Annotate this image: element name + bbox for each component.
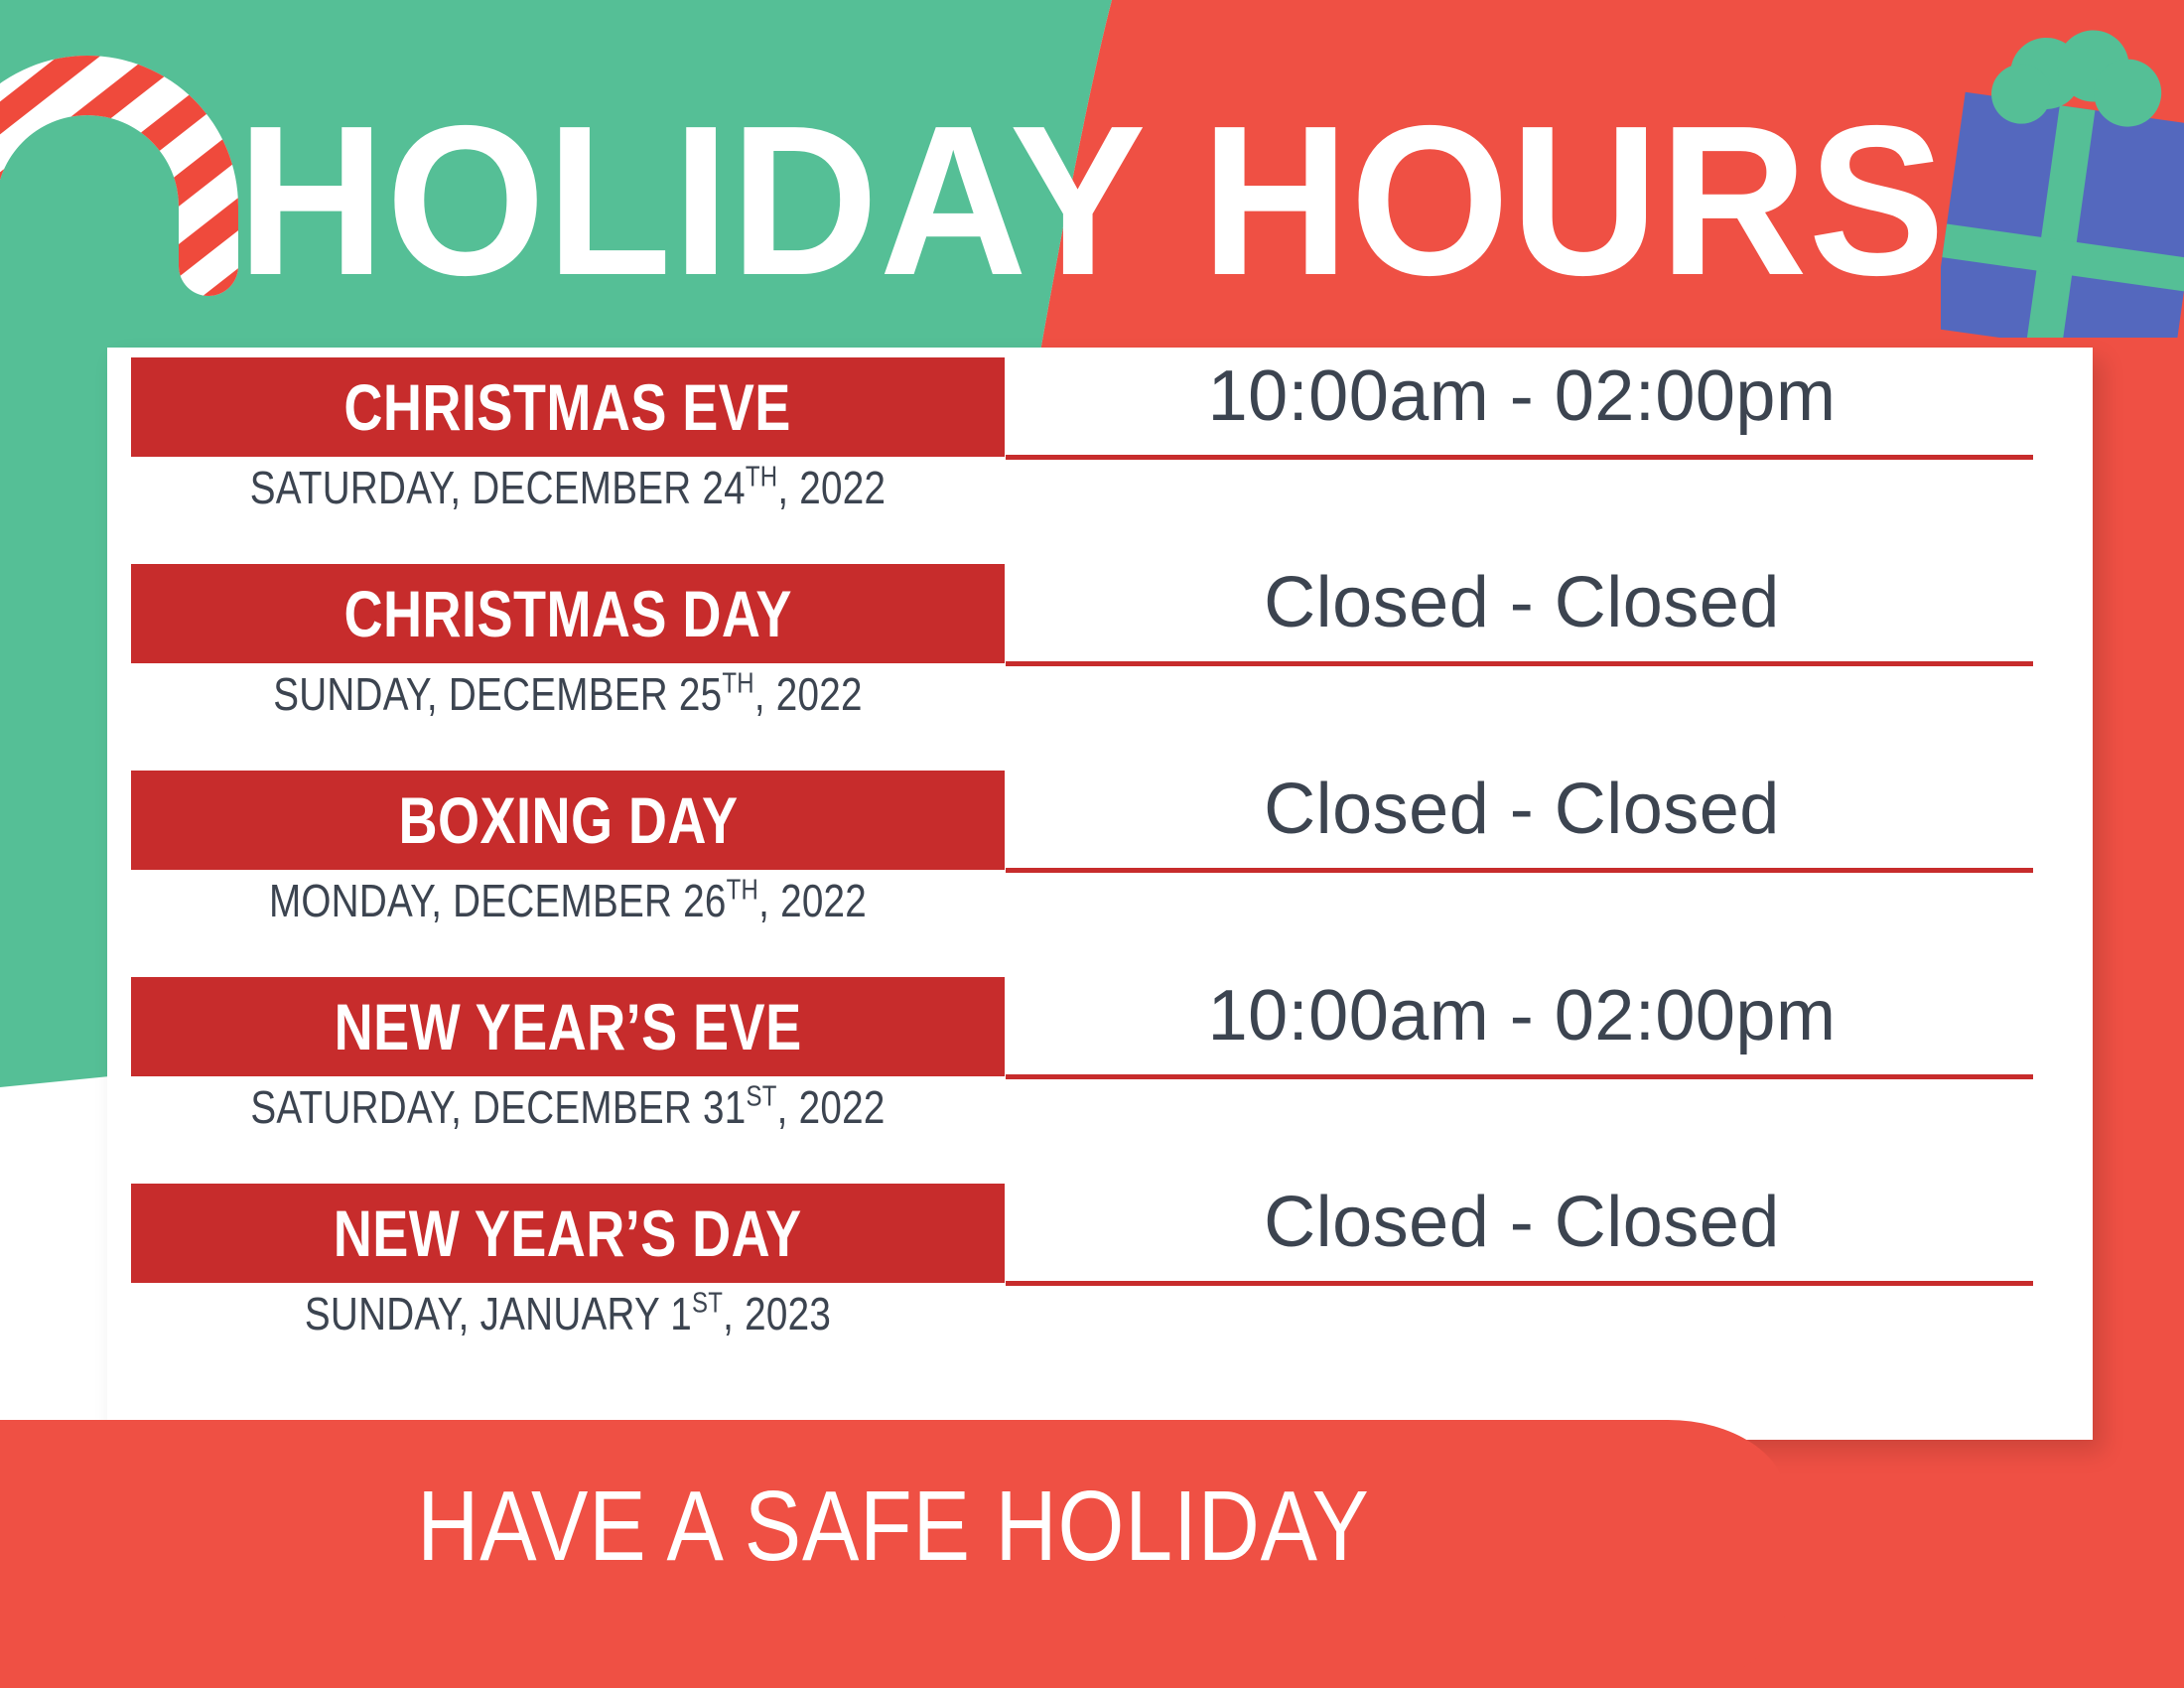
day-date-ordinal: TH — [727, 874, 758, 906]
day-date-year: , 2022 — [777, 462, 886, 513]
day-name: CHRISTMAS DAY — [343, 576, 791, 651]
day-name: NEW YEAR’S DAY — [334, 1196, 802, 1271]
day-date: SUNDAY, DECEMBER 25TH, 2022 — [201, 667, 934, 721]
hours-cell: Closed - Closed — [1011, 1162, 2033, 1283]
hours-underline — [1006, 661, 2033, 666]
table-row: NEW YEAR’S EVE SATURDAY, DECEMBER 31ST, … — [107, 977, 2093, 1184]
day-date-weekday: SUNDAY, DECEMBER 25 — [273, 668, 722, 720]
day-date-year: , 2023 — [723, 1288, 831, 1339]
table-row: BOXING DAY MONDAY, DECEMBER 26TH, 2022 C… — [107, 771, 2093, 977]
day-date: SATURDAY, DECEMBER 24TH, 2022 — [201, 461, 934, 514]
hours-cell: 10:00am - 02:00pm — [1011, 336, 2033, 457]
day-date-year: , 2022 — [758, 875, 867, 926]
hours-cell: Closed - Closed — [1011, 749, 2033, 870]
day-label-bar: NEW YEAR’S EVE — [131, 977, 1005, 1076]
day-label-bar: BOXING DAY — [131, 771, 1005, 870]
day-label-bar: CHRISTMAS DAY — [131, 564, 1005, 663]
hours-cell: 10:00am - 02:00pm — [1011, 955, 2033, 1076]
hours-value: 10:00am - 02:00pm — [1208, 355, 1837, 437]
table-row: NEW YEAR’S DAY SUNDAY, JANUARY 1ST, 2023… — [107, 1184, 2093, 1390]
day-date-weekday: MONDAY, DECEMBER 26 — [269, 875, 727, 926]
gift-box-icon — [1941, 30, 2184, 338]
table-row: CHRISTMAS DAY SUNDAY, DECEMBER 25TH, 202… — [107, 564, 2093, 771]
candy-cane-icon — [0, 18, 278, 395]
day-label-bar: CHRISTMAS EVE — [131, 357, 1005, 457]
hours-value: Closed - Closed — [1264, 769, 1780, 850]
day-date-ordinal: ST — [692, 1287, 723, 1319]
day-date: MONDAY, DECEMBER 26TH, 2022 — [201, 874, 934, 927]
hours-underline — [1006, 455, 2033, 460]
holiday-hours-poster: HOLIDAY HOURS CHRISTMAS EVE SATURDAY, DE… — [0, 0, 2184, 1688]
footer-message: HAVE A SAFE HOLIDAY — [125, 1470, 1662, 1584]
hours-value: 10:00am - 02:00pm — [1208, 975, 1837, 1056]
hours-table: CHRISTMAS EVE SATURDAY, DECEMBER 24TH, 2… — [107, 348, 2093, 1440]
day-date-weekday: SATURDAY, DECEMBER 31 — [250, 1081, 746, 1133]
day-name: NEW YEAR’S EVE — [335, 989, 802, 1064]
hours-underline — [1006, 1281, 2033, 1286]
day-date-year: , 2022 — [777, 1081, 886, 1133]
day-date-year: , 2022 — [754, 668, 863, 720]
day-name: CHRISTMAS EVE — [344, 369, 791, 445]
hours-underline — [1006, 868, 2033, 873]
day-date-ordinal: TH — [722, 667, 753, 699]
day-name: BOXING DAY — [398, 782, 738, 858]
hours-value: Closed - Closed — [1264, 562, 1780, 643]
day-date-ordinal: ST — [747, 1080, 777, 1112]
day-date-weekday: SATURDAY, DECEMBER 24 — [250, 462, 746, 513]
day-label-bar: NEW YEAR’S DAY — [131, 1184, 1005, 1283]
hours-card: CHRISTMAS EVE SATURDAY, DECEMBER 24TH, 2… — [107, 348, 2093, 1440]
hours-value: Closed - Closed — [1264, 1182, 1780, 1263]
hours-underline — [1006, 1074, 2033, 1079]
day-date-weekday: SUNDAY, JANUARY 1 — [305, 1288, 692, 1339]
day-date: SUNDAY, JANUARY 1ST, 2023 — [201, 1287, 934, 1340]
day-date: SATURDAY, DECEMBER 31ST, 2022 — [201, 1080, 934, 1134]
hours-cell: Closed - Closed — [1011, 542, 2033, 663]
table-row: CHRISTMAS EVE SATURDAY, DECEMBER 24TH, 2… — [107, 357, 2093, 564]
day-date-ordinal: TH — [746, 461, 777, 492]
